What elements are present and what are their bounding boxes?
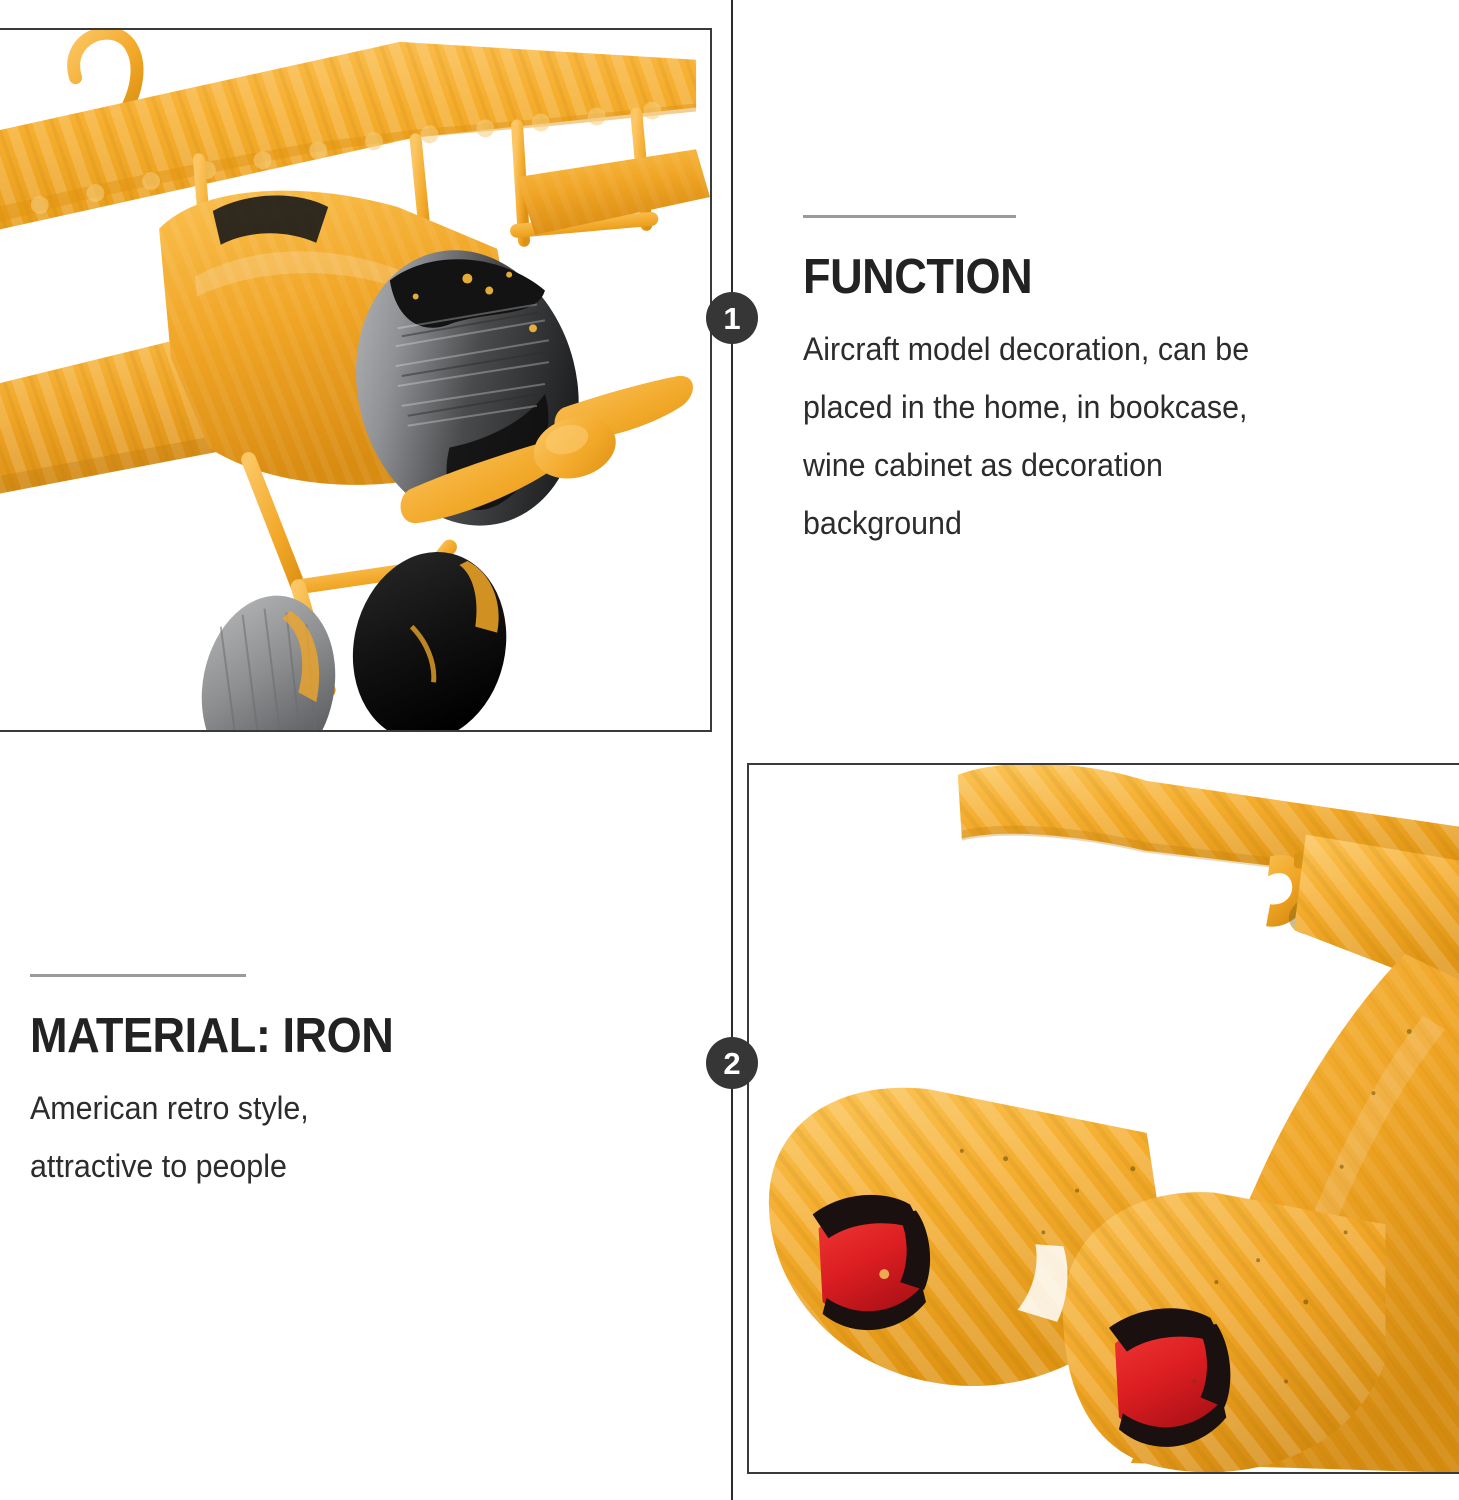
feature-body-2: American retro style, attractive to peop…: [30, 1079, 600, 1195]
feature-text-block-1: FUNCTION Aircraft model decoration, can …: [803, 215, 1403, 552]
feature-body-1: Aircraft model decoration, can be placed…: [803, 320, 1373, 552]
biplane-tail-photo: [749, 765, 1459, 1472]
feature-text-block-2: MATERIAL: IRON American retro style, att…: [30, 974, 630, 1195]
product-photo-panel-2: [747, 763, 1459, 1474]
biplane-front-photo: [0, 30, 710, 730]
feature-body-2-line-2: attractive to people: [30, 1137, 600, 1195]
step-badge-1-number: 1: [723, 303, 740, 334]
vertical-divider-line: [731, 0, 733, 1500]
heading-accent-rule-1: [803, 215, 1016, 218]
feature-body-1-line-2: placed in the home, in bookcase,: [803, 378, 1373, 436]
feature-body-2-line-1: American retro style,: [30, 1079, 600, 1137]
red-marking-lower: [1109, 1308, 1230, 1447]
red-marking-upper: [813, 1195, 930, 1330]
feature-body-1-line-4: background: [803, 494, 1373, 552]
feature-heading-2: MATERIAL: IRON: [30, 1011, 582, 1062]
product-photo-panel-1: [0, 28, 712, 732]
feature-body-1-line-1: Aircraft model decoration, can be: [803, 320, 1373, 378]
feature-body-1-line-3: wine cabinet as decoration: [803, 436, 1373, 494]
infographic-page: 1 FUNCTION Aircraft model decoration, ca…: [0, 0, 1459, 1500]
step-badge-1: 1: [706, 292, 758, 344]
step-badge-2-number: 2: [723, 1048, 740, 1079]
step-badge-2: 2: [706, 1037, 758, 1089]
feature-heading-1: FUNCTION: [803, 252, 1355, 303]
heading-accent-rule-2: [30, 974, 246, 977]
